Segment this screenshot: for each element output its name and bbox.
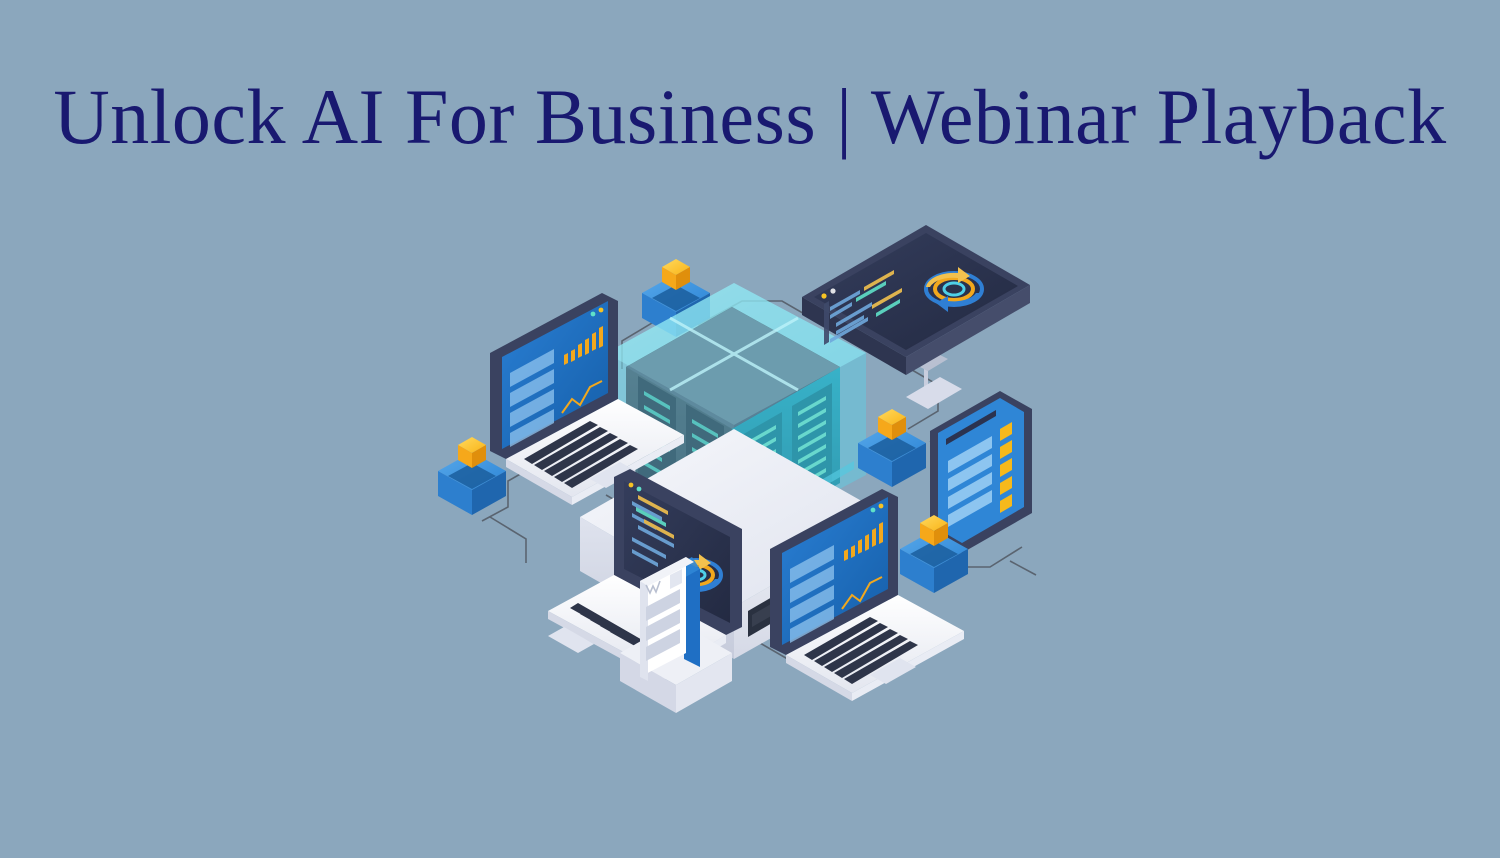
hero-illustration (430, 245, 1070, 685)
isometric-network-illustration (430, 245, 1070, 685)
cube-node-right (858, 409, 926, 487)
page-title: Unlock AI For Business | Webinar Playbac… (0, 78, 1500, 156)
title-container: Unlock AI For Business | Webinar Playbac… (0, 78, 1500, 156)
slide-canvas: Unlock AI For Business | Webinar Playbac… (0, 0, 1500, 858)
